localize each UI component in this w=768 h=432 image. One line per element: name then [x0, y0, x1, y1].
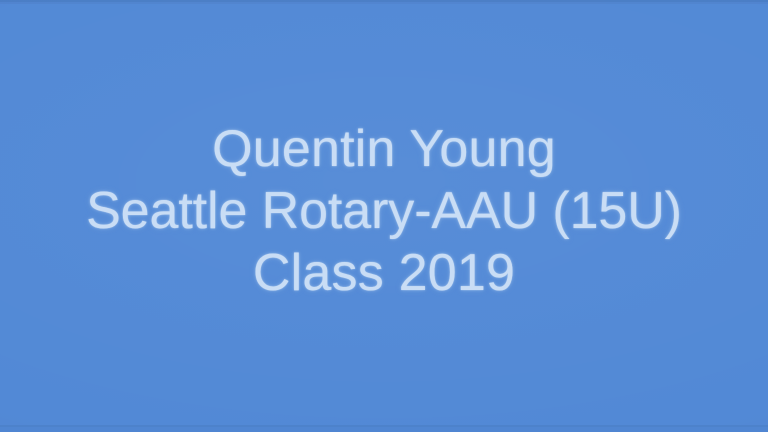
frame-bottom-edge-band-secondary: [0, 427, 768, 432]
frame-top-edge-band-secondary: [0, 2, 768, 4]
title-line-team: Seattle Rotary-AAU (15U): [0, 180, 768, 242]
video-title-card-frame: Quentin Young Seattle Rotary-AAU (15U) C…: [0, 0, 768, 432]
title-text-block: Quentin Young Seattle Rotary-AAU (15U) C…: [0, 118, 768, 304]
title-line-class-year: Class 2019: [0, 242, 768, 304]
title-line-player-name: Quentin Young: [0, 118, 768, 180]
